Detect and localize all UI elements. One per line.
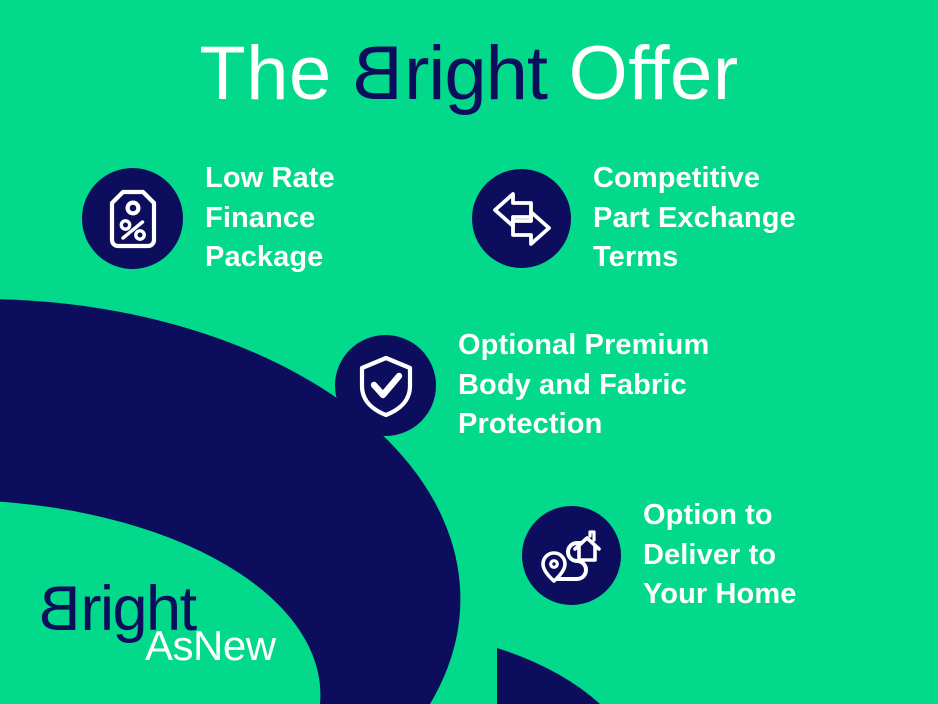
logo-b-glyph: B <box>40 578 81 641</box>
feature-icon-badge <box>82 168 183 269</box>
feature-label: Competitive Part Exchange Terms <box>593 159 796 278</box>
logo-secondary-wordmark: AsNew <box>145 625 276 667</box>
title-prefix: The <box>199 31 353 116</box>
feature-option-to-deliver-to-your-home: Option to Deliver to Your Home <box>522 496 796 615</box>
delivery-route-home-icon <box>540 527 604 585</box>
brand-b-glyph: B <box>353 36 403 112</box>
page-title: The Bright Offer <box>0 36 938 112</box>
feature-label: Option to Deliver to Your Home <box>643 496 796 615</box>
feature-label: Optional Premium Body and Fabric Protect… <box>458 326 709 445</box>
decorative-wedge <box>497 648 600 704</box>
brand-logo: Bright AsNew <box>40 578 300 688</box>
title-brand-rest: right <box>404 31 547 116</box>
shield-check-icon <box>357 354 415 418</box>
feature-optional-premium-protection: Optional Premium Body and Fabric Protect… <box>335 326 709 445</box>
feature-icon-badge <box>472 169 571 268</box>
feature-label: Low Rate Finance Package <box>205 159 335 278</box>
exchange-arrows-icon <box>491 190 553 248</box>
feature-competitive-part-exchange-terms: Competitive Part Exchange Terms <box>472 159 796 278</box>
price-tag-percent-icon <box>106 188 160 250</box>
feature-low-rate-finance-package: Low Rate Finance Package <box>82 159 335 278</box>
feature-icon-badge <box>522 506 621 605</box>
offer-promo-graphic: The Bright Offer Low Rate Finance Packag… <box>0 0 938 704</box>
title-suffix: Offer <box>547 31 739 116</box>
feature-icon-badge <box>335 335 436 436</box>
title-brand-word: Bright <box>353 31 547 116</box>
